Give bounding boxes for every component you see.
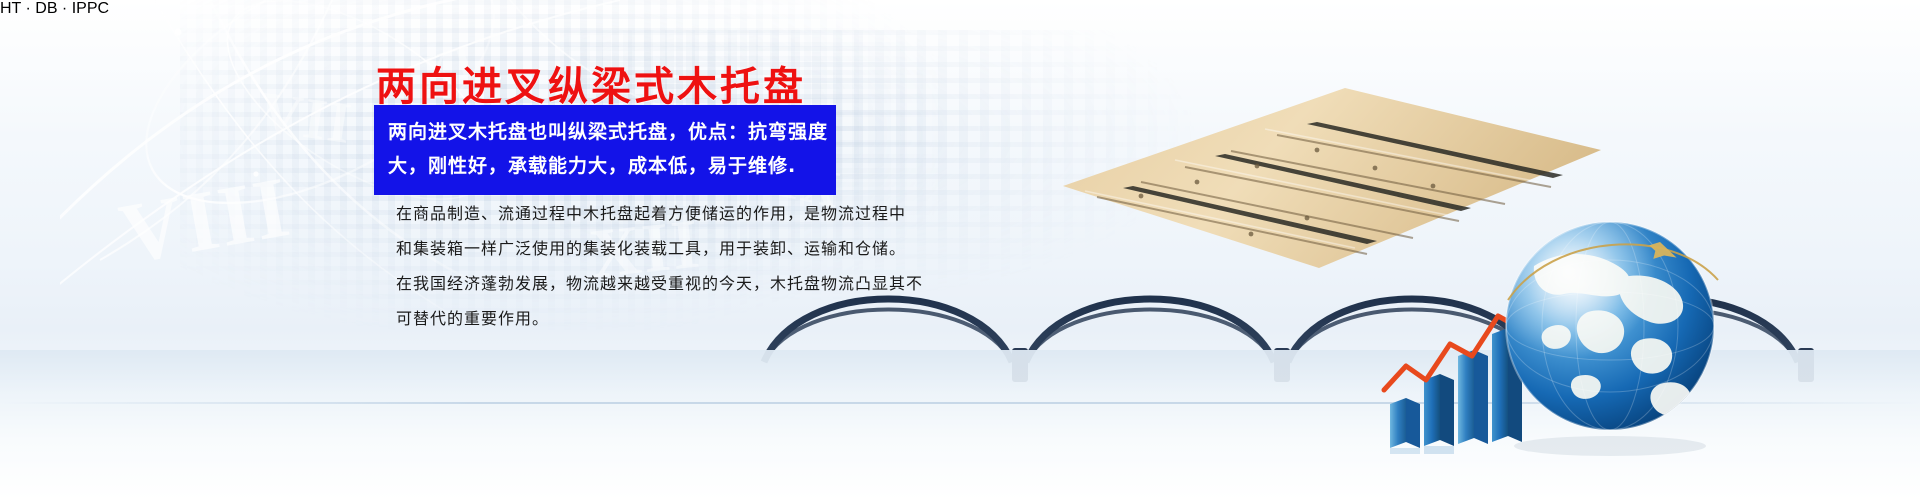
description-paragraph: 在商品制造、流通过程中木托盘起着方便储运的作用，是物流过程中 和集装箱一样广泛使… — [368, 196, 868, 336]
highlight-line-1: 两向进叉木托盘也叫纵梁式托盘，优点：抗弯强度 — [388, 115, 822, 149]
body-line-2: 和集装箱一样广泛使用的集装化装载工具，用于装卸、运输和仓储。 — [368, 231, 868, 266]
body-line-1: 在商品制造、流通过程中木托盘起着方便储运的作用，是物流过程中 — [368, 196, 868, 231]
body-line-4: 可替代的重要作用。 — [368, 301, 868, 336]
highlight-callout-box: 两向进叉木托盘也叫纵梁式托盘，优点：抗弯强度 大，刚性好，承载能力大，成本低，易… — [374, 105, 836, 195]
earth-globe-graphic — [1492, 208, 1742, 458]
highlight-line-2: 大，刚性好，承载能力大，成本低，易于维修. — [388, 149, 822, 183]
page-title: 两向进叉纵梁式木托盘 — [376, 54, 806, 112]
body-line-3: 在我国经济蓬勃发展，物流越来越受重视的今天，木托盘物流凸显其不 — [368, 266, 868, 301]
